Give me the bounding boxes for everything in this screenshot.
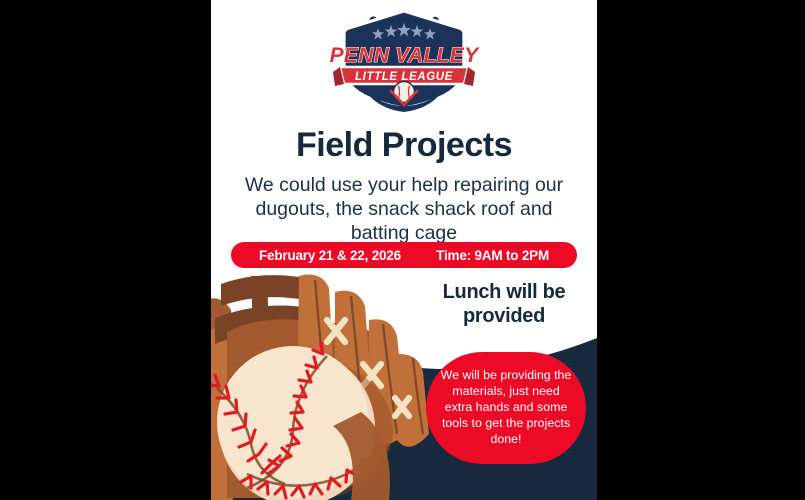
event-time: Time: 9AM to 2PM [436, 248, 549, 263]
logo-line1: PENN VALLEY [330, 44, 480, 67]
screenshot-stage: PENN VALLEY LITTLE LEAGUE [0, 0, 805, 500]
lunch-note: Lunch will be provided [416, 281, 592, 328]
materials-note-text: We will be providing the materials, just… [426, 368, 586, 447]
logo-baseball-icon [394, 82, 415, 103]
page-title: Field Projects [211, 128, 597, 164]
logo-svg: PENN VALLEY LITTLE LEAGUE [328, 8, 480, 112]
subhead-text: We could use your help repairing our dug… [229, 174, 579, 245]
baseball-glove-illustration [211, 262, 433, 500]
event-date: February 21 & 22, 2026 [259, 248, 401, 263]
flyer-poster: PENN VALLEY LITTLE LEAGUE [211, 0, 597, 500]
penn-valley-little-league-logo: PENN VALLEY LITTLE LEAGUE [211, 6, 597, 114]
glove-svg [211, 262, 433, 500]
materials-note-bubble: We will be providing the materials, just… [426, 352, 586, 464]
